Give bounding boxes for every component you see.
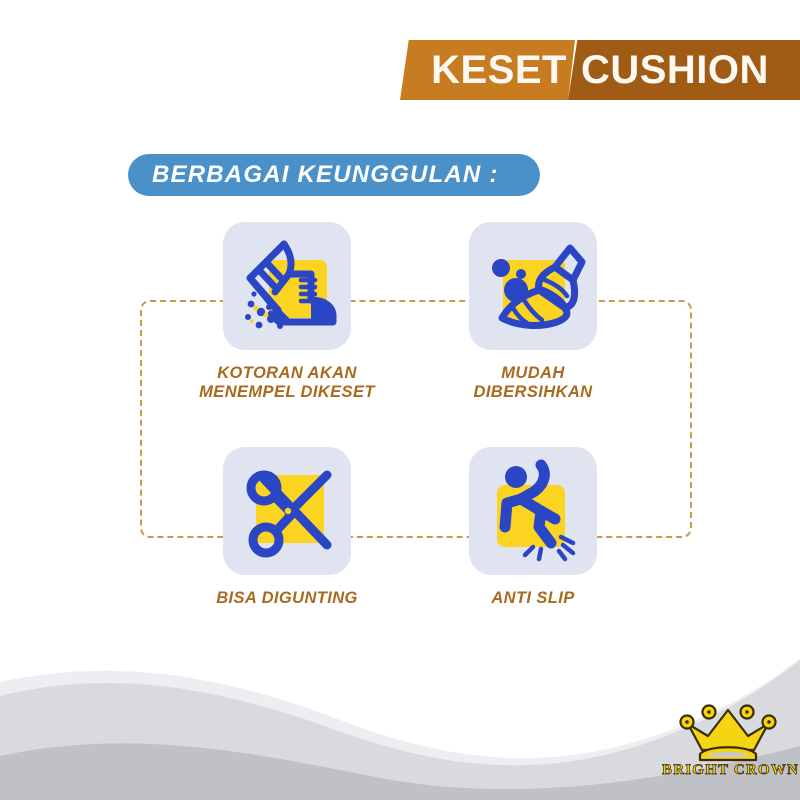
icon-card (223, 222, 351, 350)
poster-canvas: KESET CUSHION BERBAGAI KEUNGGULAN : (0, 0, 800, 800)
feature-label-line2: MENEMPEL DIKESET (172, 383, 402, 402)
feature-label-line1: KOTORAN AKAN (217, 364, 357, 382)
feature-label-line1: MUDAH (501, 364, 564, 382)
feature-item-kotoran: KOTORAN AKAN MENEMPEL DIKESET (172, 222, 402, 403)
feature-item-bisa-digunting: BISA DIGUNTING (172, 447, 402, 608)
page-title: KESET CUSHION (400, 40, 800, 100)
crown-icon (662, 698, 794, 764)
feature-label-line1: BISA DIGUNTING (216, 589, 358, 607)
feature-label-line1: ANTI SLIP (491, 589, 574, 607)
broom-icon (469, 222, 597, 350)
slip-warning-icon (469, 447, 597, 575)
brand-name: BRIGHT CROWN (662, 762, 794, 779)
icon-card (223, 447, 351, 575)
feature-label: ANTI SLIP (418, 589, 648, 608)
feature-label-line2: DIBERSIHKAN (418, 383, 648, 402)
icon-card (469, 447, 597, 575)
dirty-shoe-icon (223, 222, 351, 350)
header-banner: KESET CUSHION (400, 40, 800, 100)
page-title-part2: CUSHION (581, 48, 769, 93)
brand-logo: BRIGHT CROWN (662, 698, 794, 779)
subtitle-banner-label: BERBAGAI KEUNGGULAN : (152, 161, 499, 189)
page-title-part1: KESET (431, 48, 567, 93)
subtitle-banner: BERBAGAI KEUNGGULAN : (128, 154, 540, 196)
feature-item-mudah-dibersihkan: MUDAH DIBERSIHKAN (418, 222, 648, 403)
scissors-icon (223, 447, 351, 575)
feature-label: BISA DIGUNTING (172, 589, 402, 608)
feature-label: KOTORAN AKAN MENEMPEL DIKESET (172, 364, 402, 403)
icon-card (469, 222, 597, 350)
feature-label: MUDAH DIBERSIHKAN (418, 364, 648, 403)
feature-item-anti-slip: ANTI SLIP (418, 447, 648, 608)
